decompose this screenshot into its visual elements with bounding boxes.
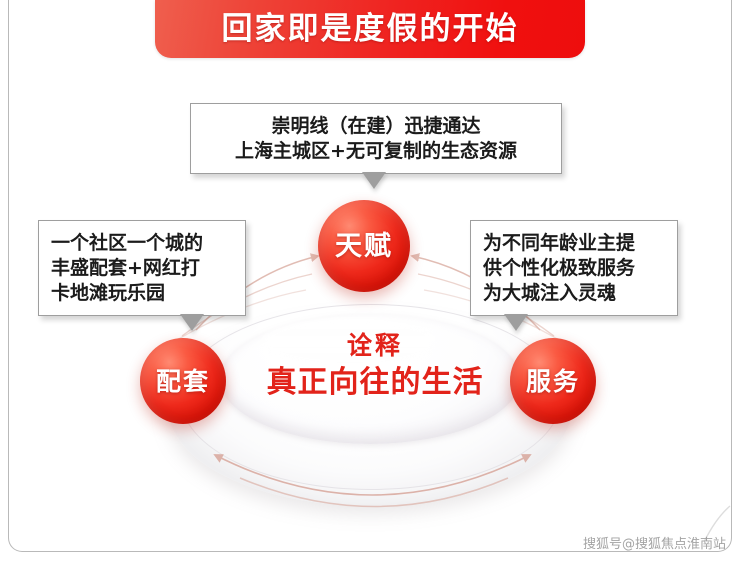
watermark: 搜狐号@搜狐焦点淮南站 bbox=[583, 533, 726, 552]
watermark-text: 搜狐号@搜狐焦点淮南站 bbox=[583, 533, 726, 552]
callout-right-line3: 为大城注入灵魂 bbox=[483, 281, 665, 306]
callout-right-tail bbox=[505, 315, 527, 331]
callout-left: 一个社区一个城的 丰盛配套+网红打 卡地滩玩乐园 bbox=[38, 220, 246, 316]
callout-right-line2: 供个性化极致服务 bbox=[483, 256, 665, 281]
header-banner: 回家即是度假的开始 bbox=[155, 0, 585, 58]
center-slogan-line1: 诠释 bbox=[240, 332, 510, 361]
callout-left-tail bbox=[181, 315, 203, 331]
node-sphere-amenities[interactable]: 配套 bbox=[140, 338, 226, 424]
callout-top-line1: 崇明线（在建）迅捷通达 bbox=[203, 114, 549, 139]
callout-top-tail bbox=[363, 173, 385, 189]
banner-title: 回家即是度假的开始 bbox=[222, 14, 519, 45]
callout-right-line1: 为不同年龄业主提 bbox=[483, 231, 665, 256]
node-sphere-amenities-label: 配套 bbox=[156, 369, 210, 394]
node-sphere-service[interactable]: 服务 bbox=[510, 338, 596, 424]
node-sphere-talent[interactable]: 天赋 bbox=[318, 200, 410, 292]
node-sphere-talent-label: 天赋 bbox=[335, 233, 393, 260]
callout-right: 为不同年龄业主提 供个性化极致服务 为大城注入灵魂 bbox=[470, 220, 678, 316]
callout-top-line2: 上海主城区+无可复制的生态资源 bbox=[203, 139, 549, 164]
callout-left-line3: 卡地滩玩乐园 bbox=[51, 281, 233, 306]
node-sphere-service-label: 服务 bbox=[526, 369, 580, 394]
infographic-page: 回家即是度假的开始 诠释 真正向往的生活 天赋 配套 bbox=[0, 0, 740, 562]
center-slogan: 诠释 真正向往的生活 bbox=[240, 332, 510, 401]
callout-top: 崇明线（在建）迅捷通达 上海主城区+无可复制的生态资源 bbox=[190, 103, 562, 174]
center-slogan-line2: 真正向往的生活 bbox=[240, 365, 510, 401]
callout-left-line2: 丰盛配套+网红打 bbox=[51, 256, 233, 281]
callout-left-line1: 一个社区一个城的 bbox=[51, 231, 233, 256]
